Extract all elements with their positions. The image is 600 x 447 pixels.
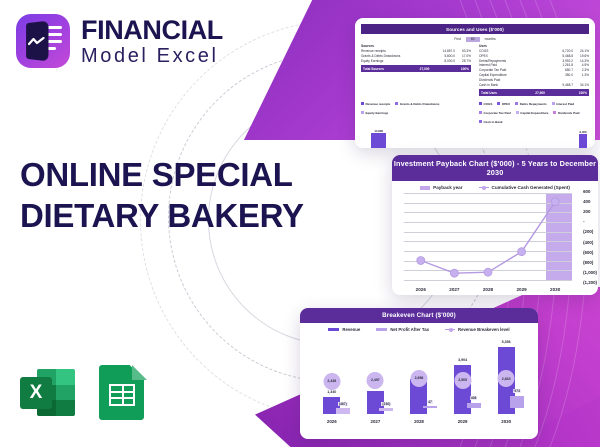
revenue-bar-label: 1,340: [327, 390, 336, 394]
uses-total-value: 27,900: [523, 91, 545, 95]
breakeven-level-bubble: 2,438: [323, 373, 340, 390]
legend-swatch-icon: [515, 102, 518, 105]
npat-bar-label: (467): [338, 402, 348, 406]
x-tick-label: 2026: [404, 287, 438, 292]
period-value[interactable]: 60: [466, 37, 480, 42]
legend-payback-year-label: Payback year: [433, 185, 462, 190]
sources-bar-chart: 14,8995,0008,000: [361, 125, 471, 148]
sources-table-row: Equity Earnings8,000.028.7%: [361, 59, 471, 64]
legend-item-label: Capital Expenditure: [520, 111, 548, 115]
npat-bar-label: 47: [427, 400, 433, 404]
legend-swatch-revenue-icon: [328, 328, 339, 331]
payback-line-series: [404, 193, 572, 281]
legend-line-marker-icon: [479, 187, 489, 188]
logo-squiggle-icon: [28, 37, 45, 46]
logo-lines-icon: [47, 26, 62, 50]
poster-canvas: FINANCIAL Model Excel ONLINE SPECIAL DIE…: [0, 0, 600, 447]
revenue-bar-label: 5,356: [502, 340, 511, 344]
google-sheets-icon: [99, 365, 147, 420]
legend-item: COGS: [479, 102, 492, 106]
npat-bar: 973: [510, 396, 524, 408]
legend-cumulative-cash: Cumulative Cash Generated (Spent): [479, 185, 570, 190]
legend-swatch-icon: [479, 111, 482, 114]
breakeven-level-bubble: 2,633: [498, 370, 515, 387]
x-tick-label: 2030: [488, 419, 524, 424]
brand-line-2: Model Excel: [81, 46, 223, 66]
sources-total-value: 27,000: [407, 67, 429, 71]
row-value: 9,468.7: [551, 83, 573, 88]
document-chart-icon: [16, 14, 70, 68]
y-tick-label: -: [583, 219, 597, 224]
npat-bar: 47: [423, 406, 437, 408]
page-title: ONLINE SPECIAL DIETARY BAKERY: [20, 155, 320, 236]
row-pct: 34.1%: [573, 83, 589, 88]
legend-swatch-icon: [361, 111, 364, 114]
legend-item: Grants & Debts Drawdowns: [395, 102, 439, 106]
y-tick-label: (200): [583, 229, 597, 234]
brand-wordmark: FINANCIAL Model Excel: [81, 17, 223, 66]
investment-payback-card: Investment Payback Chart ($'000) - 5 Yea…: [392, 155, 598, 295]
legend-item-label: Interest Paid: [556, 102, 574, 106]
sheets-fold-shape: [132, 365, 147, 380]
legend-item-label: Cash in Bank: [484, 120, 503, 124]
legend-item: OPEX: [497, 102, 510, 106]
row-label: Cash in Bank: [479, 83, 551, 88]
legend-breakeven-level-label: Revenue Breakeven level: [458, 327, 510, 332]
row-pct: 28.7%: [455, 59, 471, 64]
legend-cumulative-cash-label: Cumulative Cash Generated (Spent): [492, 185, 570, 190]
legend-item-label: Dividends Paid: [558, 111, 580, 115]
uses-bar-chart: 4,7193,4492,9931,268635283-9,469: [479, 125, 589, 148]
breakeven-card: Breakeven Chart ($'000) Revenue Net Prof…: [300, 308, 538, 439]
sources-column: Sources Revenue receipts14,857.053.3%Gra…: [361, 44, 471, 96]
y-tick-label: 600: [583, 189, 597, 194]
breakeven-legend: Revenue Net Profit After Tax Revenue Bre…: [300, 323, 538, 334]
legend-item: Revenue receipts: [361, 102, 390, 106]
period-label-months: months: [485, 37, 496, 41]
y-tick-label: (600): [583, 250, 597, 255]
x-tick-label: 2030: [538, 287, 572, 292]
y-tick-label: (800): [583, 260, 597, 265]
payback-x-axis: 20262027202820292030: [404, 287, 572, 292]
payback-chart-title: Investment Payback Chart ($'000) - 5 Yea…: [392, 155, 598, 181]
legend-item: Dividends Paid: [553, 111, 579, 115]
sources-total-row: Total Sources 27,000 100%: [361, 65, 471, 71]
breakeven-group: 5,3569732,633: [488, 336, 524, 414]
sources-total-label: Total Sources: [363, 67, 384, 71]
uses-total-row: Total Uses 27,900 100%: [479, 89, 589, 95]
excel-x-letter: X: [20, 377, 52, 409]
npat-bar: 408: [467, 403, 481, 408]
x-tick-label: 2028: [471, 287, 505, 292]
row-value: 8,000.0: [433, 59, 455, 64]
legend-swatch-icon: [479, 120, 482, 123]
y-tick-label: (1,200): [583, 280, 597, 285]
file-format-icons: X: [20, 365, 147, 420]
x-tick-label: 2026: [314, 419, 350, 424]
breakeven-chart-title: Breakeven Chart ($'000): [300, 308, 538, 323]
breakeven-level-bubble: 2,505: [454, 372, 471, 389]
uses-total-pct: 100%: [571, 91, 587, 95]
legend-swatch-band-icon: [420, 186, 430, 190]
x-tick-label: 2029: [505, 287, 539, 292]
breakeven-group: 3,9044082,505: [445, 336, 481, 414]
revenue-bar-label: 3,904: [458, 358, 467, 362]
npat-bar: (467): [336, 408, 350, 414]
sources-heading: Sources: [361, 44, 471, 48]
legend-breakeven-level: Revenue Breakeven level: [445, 327, 510, 332]
sources-uses-title: Sources and Uses ($'000): [361, 24, 589, 34]
legend-item-label: OPEX: [502, 102, 510, 106]
legend-item-label: COGS: [484, 102, 493, 106]
bar-item: 14,899: [371, 129, 386, 148]
breakeven-plot-area: 1,340(467)2,4381,848(230)2,4972,813472,6…: [310, 336, 528, 414]
legend-line-marker-icon: [445, 329, 455, 330]
sources-uses-period-selector[interactable]: First 60 months: [361, 34, 589, 44]
row-label: Equity Earnings: [361, 59, 433, 64]
legend-swatch-npat-icon: [376, 328, 387, 331]
uses-chart-legend: COGSOPEXDebts RepaymentsInterest PaidCor…: [479, 102, 589, 124]
x-tick-label: 2027: [438, 287, 472, 292]
y-tick-label: (400): [583, 240, 597, 245]
breakeven-level-bubble: 2,656: [410, 370, 427, 387]
legend-item-label: Corporate Tax Paid: [484, 111, 511, 115]
y-tick-label: (1,000): [583, 270, 597, 275]
legend-item: Interest Paid: [552, 102, 575, 106]
legend-swatch-icon: [479, 102, 482, 105]
sources-uses-table: Sources Revenue receipts14,857.053.3%Gra…: [361, 44, 589, 96]
x-tick-label: 2029: [445, 419, 481, 424]
brand-logo: FINANCIAL Model Excel: [16, 14, 223, 68]
legend-swatch-icon: [516, 111, 519, 114]
breakeven-x-axis: 20262027202820292030: [310, 419, 528, 424]
x-tick-label: 2028: [401, 419, 437, 424]
bar-rect: [371, 133, 386, 148]
npat-bar-label: (230): [381, 402, 391, 406]
breakeven-level-bubble: 2,497: [367, 372, 384, 389]
y-tick-label: 400: [583, 199, 597, 204]
payback-plot-area: 600400200-(200)(400)(600)(800)(1,000)(1,…: [404, 193, 572, 281]
legend-swatch-icon: [552, 102, 555, 105]
payback-legend: Payback year Cumulative Cash Generated (…: [392, 181, 598, 193]
payback-y-axis: 600400200-(200)(400)(600)(800)(1,000)(1,…: [583, 189, 597, 285]
sources-total-pct: 100%: [453, 67, 469, 71]
uses-heading: Uses: [479, 44, 589, 48]
legend-swatch-icon: [497, 102, 500, 105]
excel-icon: X: [20, 365, 75, 420]
breakeven-group: 2,813472,656: [401, 336, 437, 414]
legend-item: Capital Expenditure: [516, 111, 549, 115]
legend-revenue: Revenue: [328, 327, 360, 332]
uses-total-label: Total Uses: [481, 91, 497, 95]
sources-chart-legend: Revenue receiptsGrants & Debts Drawdowns…: [361, 102, 471, 115]
legend-item: Cash in Bank: [479, 120, 503, 124]
bar-rect: [579, 134, 587, 148]
y-tick-label: 200: [583, 209, 597, 214]
x-tick-label: 2027: [357, 419, 393, 424]
npat-bar-label: 973: [513, 389, 521, 393]
bar-value-label: 9,469: [580, 130, 587, 134]
legend-item: Debts Repayments: [515, 102, 547, 106]
npat-bar: (230): [379, 408, 393, 411]
breakeven-group: 1,340(467)2,438: [314, 336, 350, 414]
legend-npat-label: Net Profit After Tax: [390, 327, 429, 332]
bar-item: 9,469: [579, 130, 587, 148]
sources-and-uses-card: Sources and Uses ($'000) First 60 months…: [355, 18, 595, 148]
legend-item: Equity Earnings: [361, 111, 388, 115]
uses-table-row: Cash in Bank9,468.734.1%: [479, 83, 589, 88]
period-label-first: First: [454, 37, 461, 41]
legend-item-label: Revenue receipts: [366, 102, 391, 106]
legend-swatch-icon: [361, 102, 364, 105]
legend-npat: Net Profit After Tax: [376, 327, 429, 332]
brand-line-1: FINANCIAL: [81, 17, 223, 44]
legend-item-label: Equity Earnings: [366, 111, 389, 115]
npat-bar-label: 408: [470, 396, 478, 400]
sheets-grid-shape: [109, 384, 135, 406]
legend-swatch-icon: [553, 111, 556, 114]
legend-item-label: Grants & Debts Drawdowns: [400, 102, 440, 106]
legend-payback-year: Payback year: [420, 185, 462, 190]
legend-revenue-label: Revenue: [342, 327, 360, 332]
legend-item-label: Debts Repayments: [520, 102, 547, 106]
legend-swatch-icon: [395, 102, 398, 105]
breakeven-group: 1,848(230)2,497: [357, 336, 393, 414]
legend-item: Corporate Tax Paid: [479, 111, 511, 115]
uses-column: Uses COGS6,720.024.1%OPEX5,468.819.6%Deb…: [479, 44, 589, 96]
bar-value-label: 14,899: [374, 129, 383, 133]
sources-uses-charts: 14,8995,0008,000 4,7193,4492,9931,268635…: [361, 125, 589, 148]
